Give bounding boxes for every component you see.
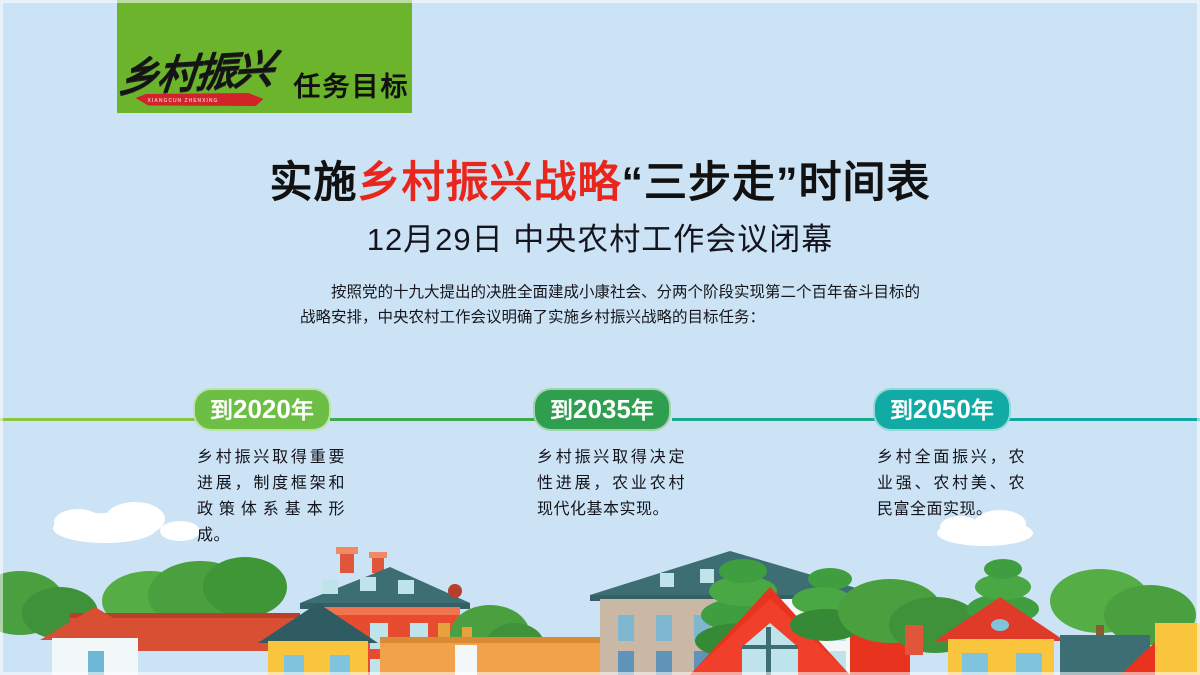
- logo-brush-caption: XIANGCUN ZHENXING: [148, 98, 219, 104]
- logo-calligraphy-text: 乡村振兴: [116, 36, 275, 103]
- timeline-segment-1: [330, 418, 545, 421]
- milestone-card-2020: 到2020年 乡村振兴取得重要进展，制度框架和政策体系基本形成。: [193, 388, 353, 549]
- badge-year: 2050: [913, 394, 971, 424]
- page-title: 实施乡村振兴战略“三步走”时间表: [0, 148, 1200, 210]
- milestone-description-2035: 乡村振兴取得决定性进展，农业农村现代化基本实现。: [533, 445, 685, 523]
- milestone-badge-2035[interactable]: 到2035年: [533, 388, 671, 431]
- logo-inner: 乡村振兴 XIANGCUN ZHENXING 任务目标: [120, 43, 410, 105]
- badge-suffix: 年: [291, 397, 314, 423]
- logo-banner: 乡村振兴 XIANGCUN ZHENXING 任务目标: [117, 0, 412, 113]
- milestone-description-2050: 乡村全面振兴，农业强、农村美、农民富全面实现。: [873, 445, 1025, 523]
- intro-paragraph: 按照党的十九大提出的决胜全面建成小康社会、分两个阶段实现第二个百年奋斗目标的战略…: [300, 280, 920, 330]
- milestone-badge-2050[interactable]: 到2050年: [873, 388, 1011, 431]
- milestone-card-2050: 到2050年 乡村全面振兴，农业强、农村美、农民富全面实现。: [873, 388, 1033, 523]
- logo-sub-label: 任务目标: [294, 74, 410, 105]
- badge-prefix: 到: [210, 397, 233, 423]
- badge-suffix: 年: [971, 397, 994, 423]
- title-pre: 实施: [270, 159, 358, 207]
- badge-year: 2020: [233, 394, 291, 424]
- badge-prefix: 到: [890, 397, 913, 423]
- badge-prefix: 到: [550, 397, 573, 423]
- infographic-poster: 乡村振兴 XIANGCUN ZHENXING 任务目标 实施乡村振兴战略“三步走…: [0, 0, 1200, 675]
- badge-suffix: 年: [631, 397, 654, 423]
- milestone-description-2020: 乡村振兴取得重要进展，制度框架和政策体系基本形成。: [193, 445, 345, 549]
- title-post: “三步走”时间表: [622, 159, 931, 207]
- timeline-segment-left: [0, 418, 210, 421]
- milestone-card-2035: 到2035年 乡村振兴取得决定性进展，农业农村现代化基本实现。: [533, 388, 693, 523]
- title-highlight: 乡村振兴战略: [358, 159, 622, 207]
- milestone-badge-2020[interactable]: 到2020年: [193, 388, 331, 431]
- timeline: 到2020年 乡村振兴取得重要进展，制度框架和政策体系基本形成。 到2035年 …: [0, 388, 1200, 675]
- page-subtitle: 12月29日 中央农村工作会议闭幕: [0, 214, 1200, 259]
- badge-year: 2035: [573, 394, 631, 424]
- timeline-segment-2: [672, 418, 877, 421]
- logo-calligraphy-mark: 乡村振兴 XIANGCUN ZHENXING: [120, 43, 280, 105]
